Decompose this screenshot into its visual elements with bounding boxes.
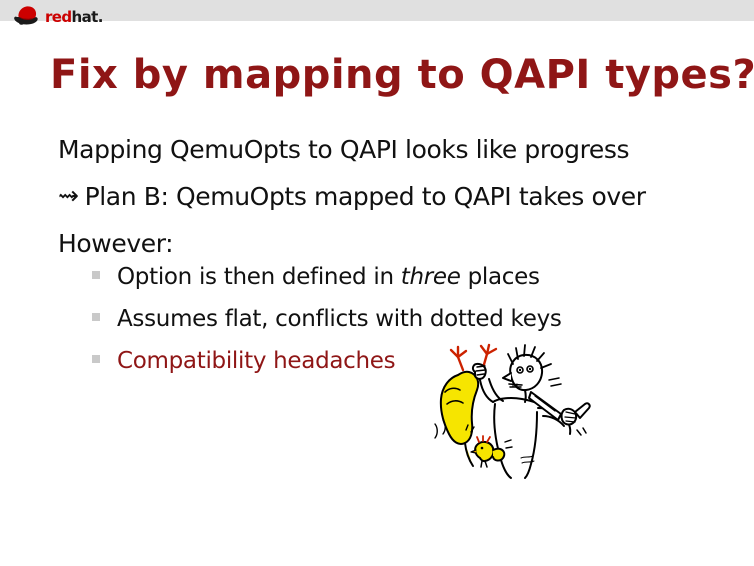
header-bar	[0, 0, 754, 21]
bullet-1-pre: Option is then defined in	[117, 264, 401, 290]
square-bullet-icon	[92, 313, 100, 321]
cartoon-man-with-knife-and-chicken	[425, 342, 595, 482]
squiggle-arrow-icon: ⇝	[58, 183, 79, 208]
body-line-2: ⇝Plan B: QemuOpts mapped to QAPI takes o…	[58, 173, 718, 220]
logo-text-dot: .	[98, 8, 103, 26]
redhat-shadowman-icon	[12, 2, 42, 28]
bullet-text-3: Compatibility headaches	[117, 346, 395, 376]
list-item: Assumes flat, conflicts with dotted keys	[92, 304, 712, 346]
body-line-1: Mapping QemuOpts to QAPI looks like prog…	[58, 126, 718, 173]
slide-body: Mapping QemuOpts to QAPI looks like prog…	[58, 126, 718, 267]
bullet-3-pre: Compatibility headaches	[117, 348, 395, 374]
bullet-text-1: Option is then defined in three places	[117, 262, 540, 292]
list-item: Compatibility headaches	[92, 346, 712, 388]
list-item: Option is then defined in three places	[92, 262, 712, 304]
bullet-1-emphasis: three	[401, 264, 461, 290]
bullet-list: Option is then defined in three places A…	[92, 262, 712, 388]
bullet-1-post: places	[461, 264, 540, 290]
body-line-3-text: However:	[58, 229, 173, 258]
bullet-2-pre: Assumes flat, conflicts with dotted keys	[117, 306, 562, 332]
logo-text-hat: hat	[72, 8, 98, 26]
redhat-logo: redhat.	[12, 0, 103, 30]
redhat-wordmark: redhat.	[45, 10, 103, 25]
slide-title: Fix by mapping to QAPI types?	[50, 52, 710, 98]
bullet-text-2: Assumes flat, conflicts with dotted keys	[117, 304, 562, 334]
logo-text-red: red	[45, 8, 72, 26]
square-bullet-icon	[92, 355, 100, 363]
body-line-2-text: Plan B: QemuOpts mapped to QAPI takes ov…	[85, 182, 646, 211]
square-bullet-icon	[92, 271, 100, 279]
body-line-1-text: Mapping QemuOpts to QAPI looks like prog…	[58, 135, 629, 164]
body-line-3: However:	[58, 220, 718, 267]
